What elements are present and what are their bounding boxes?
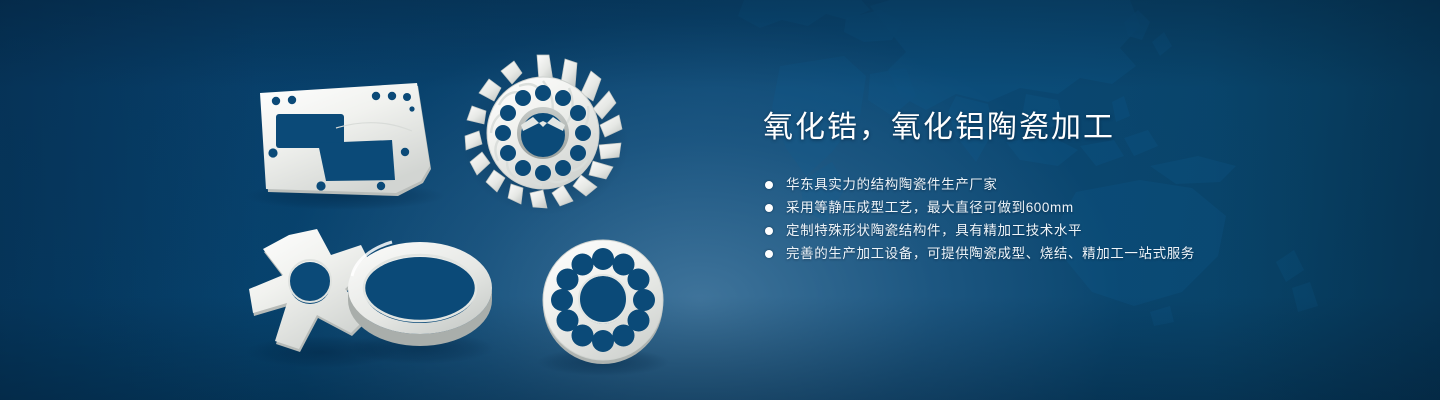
feature-bullet-item: 采用等静压成型工艺，最大直径可做到600mm: [763, 197, 1383, 218]
feature-bullet-text: 定制特殊形状陶瓷结构件，具有精加工技术水平: [786, 220, 1082, 241]
feature-bullet-text: 采用等静压成型工艺，最大直径可做到600mm: [786, 197, 1074, 218]
feature-bullet-item: 定制特殊形状陶瓷结构件，具有精加工技术水平: [763, 220, 1383, 241]
ceramic-perforated-disc: [537, 240, 669, 376]
feature-bullet-text: 完善的生产加工设备，可提供陶瓷成型、烧结、精加工一站式服务: [786, 243, 1195, 264]
copy-block: 氧化锆，氧化铝陶瓷加工 华东具实力的结构陶瓷件生产厂家 采用等静压成型工艺，最大…: [763, 108, 1383, 280]
banner-headline: 氧化锆，氧化铝陶瓷加工: [763, 108, 1383, 148]
feature-bullet-text: 华东具实力的结构陶瓷件生产厂家: [786, 174, 998, 195]
feature-bullet-item: 完善的生产加工设备，可提供陶瓷成型、烧结、精加工一站式服务: [763, 243, 1383, 264]
ceramic-machined-plate: [245, 83, 445, 210]
bullet-dot-icon: [765, 250, 773, 258]
product-image-group: [0, 0, 740, 400]
bullet-dot-icon: [765, 204, 773, 212]
feature-bullet-list: 华东具实力的结构陶瓷件生产厂家 采用等静压成型工艺，最大直径可做到600mm 定…: [763, 174, 1383, 264]
hero-banner: 氧化锆，氧化铝陶瓷加工 华东具实力的结构陶瓷件生产厂家 采用等静压成型工艺，最大…: [0, 0, 1440, 400]
feature-bullet-item: 华东具实力的结构陶瓷件生产厂家: [763, 174, 1383, 195]
bullet-dot-icon: [765, 181, 773, 189]
ceramic-impeller-disc: [461, 55, 629, 215]
ceramic-ring: [346, 242, 494, 364]
bullet-dot-icon: [765, 227, 773, 235]
